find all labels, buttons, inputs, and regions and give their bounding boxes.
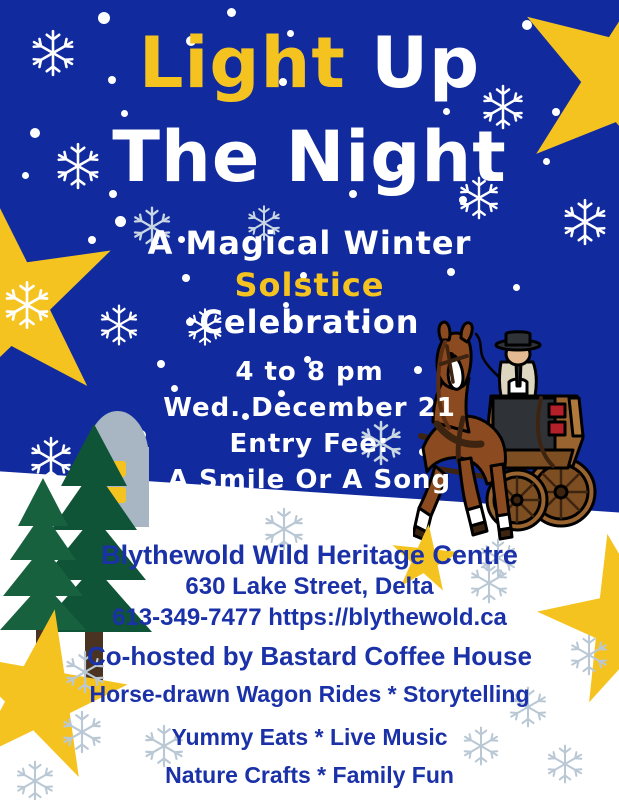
venue-contact: 613-349-7477 https://blythewold.ca <box>0 604 619 632</box>
title-word-light: Light <box>139 22 346 104</box>
activities-line-2: Yummy Eats * Live Music <box>0 724 619 751</box>
event-date: Wed. December 21 <box>0 392 619 424</box>
venue-address: 630 Lake Street, Delta <box>0 573 619 601</box>
poster-title-line-2: The Night <box>0 118 619 196</box>
sky-dot <box>443 108 450 115</box>
cohost-line: Co-hosted by Bastard Coffee House <box>0 641 619 672</box>
activities-line-1: Horse-drawn Wagon Rides * Storytelling <box>0 681 619 708</box>
event-time: 4 to 8 pm <box>0 356 619 388</box>
sky-dot <box>552 108 560 116</box>
entry-fee-value: A Smile Or A Song <box>0 464 619 496</box>
activities-line-3: Nature Crafts * Family Fun <box>0 762 619 789</box>
title-word-up: Up <box>371 22 480 104</box>
sky-dot <box>98 12 110 24</box>
venue-name: Blythewold Wild Heritage Centre <box>0 540 619 571</box>
sky-dot <box>227 8 236 17</box>
poster-canvas: Light Up The Night A Magical Winter Sols… <box>0 0 619 800</box>
subtitle-celebration: Celebration <box>0 303 619 341</box>
entry-fee-label: Entry Fee: <box>0 428 619 460</box>
subtitle-line-1: A Magical Winter <box>0 224 619 262</box>
poster-title-line-1: Light Up <box>0 24 619 102</box>
subtitle-solstice: Solstice <box>0 266 619 304</box>
